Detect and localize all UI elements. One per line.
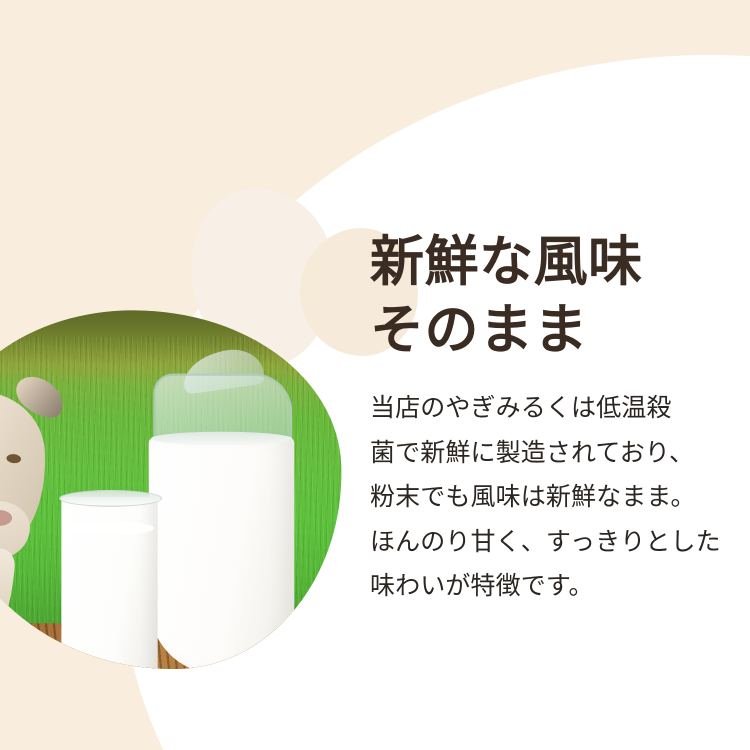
milk-glass-surface [65,521,155,534]
milk-glass-rim [59,490,162,507]
headline: 新鮮な風味 そのまま [370,228,730,364]
body-copy: 当店のやぎみるくは低温殺 菌で新鮮に製造されており、 粉末でも風味は新鮮なまま。… [370,386,730,609]
milk-pitcher-body [149,436,295,673]
product-photo [0,303,348,677]
copy-block: 新鮮な風味 そのまま 当店のやぎみるくは低温殺 菌で新鮮に製造されており、 粉末… [370,228,730,609]
milk-pitcher-rim [151,432,292,445]
pasture-photo-backdrop [0,303,348,677]
promo-banner: 新鮮な風味 そのまま 当店のやぎみるくは低温殺 菌で新鮮に製造されており、 粉末… [0,0,750,750]
